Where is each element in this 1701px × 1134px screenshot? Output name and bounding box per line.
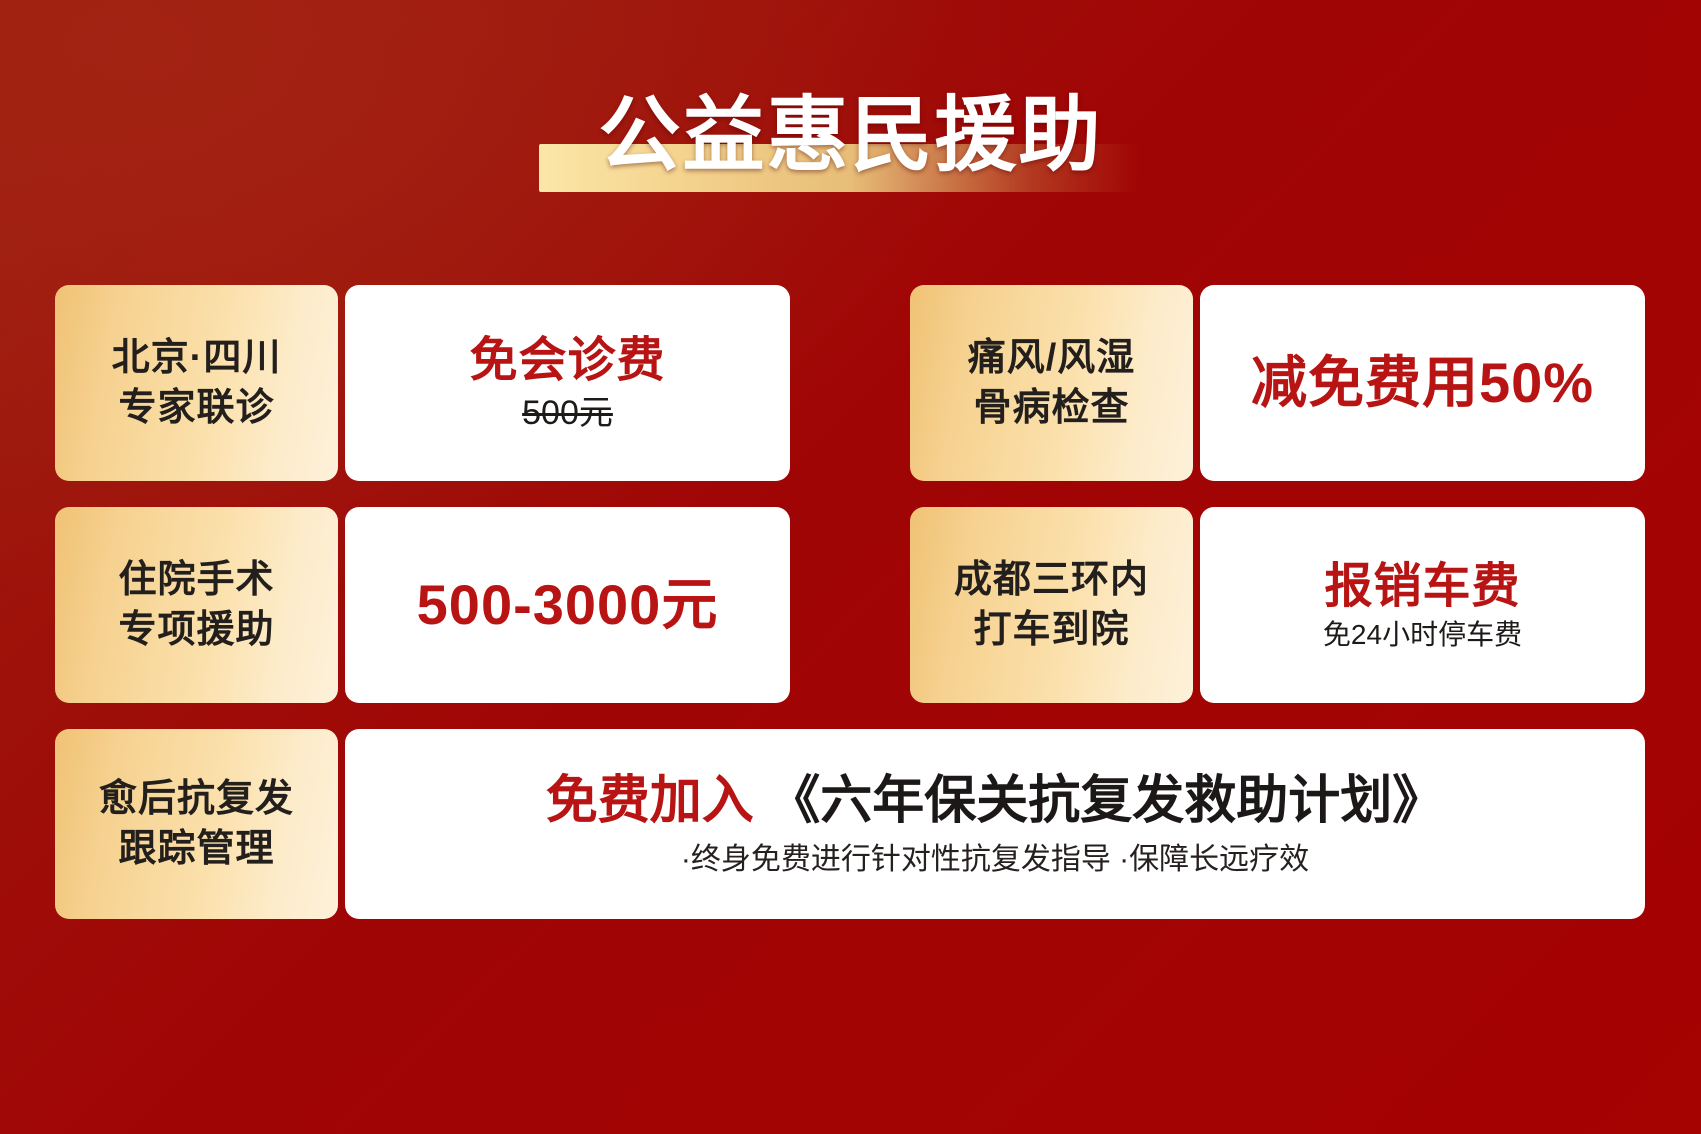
benefit-pair-5: 愈后抗复发 跟踪管理 免费加入 《六年保关抗复发救助计划》 ·终身免费进行针对性…: [55, 729, 1645, 919]
benefit-note-5: ·终身免费进行针对性抗复发指导 ·保障长远疗效: [681, 840, 1309, 880]
benefit-label-line-4a: 成都三环内: [954, 555, 1149, 605]
benefit-label-card-5: 愈后抗复发 跟踪管理: [55, 729, 338, 919]
benefit-label-line-3a: 住院手术: [118, 555, 274, 605]
benefit-label-card-1: 北京·四川 专家联诊: [55, 285, 338, 481]
benefit-pair-1: 北京·四川 专家联诊 免会诊费 500元: [55, 285, 790, 481]
benefit-pair-2: 痛风/风湿 骨病检查 减免费用50%: [910, 285, 1645, 481]
row-2-gap: [790, 507, 910, 703]
benefit-value-card-5: 免费加入 《六年保关抗复发救助计划》 ·终身免费进行针对性抗复发指导 ·保障长远…: [345, 729, 1645, 919]
benefit-label-line-1a: 北京·四川: [112, 333, 282, 383]
benefit-label-card-4: 成都三环内 打车到院: [910, 507, 1193, 703]
benefit-label-line-5b: 跟踪管理: [118, 824, 274, 874]
benefit-label-card-2: 痛风/风湿 骨病检查: [910, 285, 1193, 481]
benefit-headline-5: 免费加入 《六年保关抗复发救助计划》: [546, 768, 1444, 834]
benefit-headline-red: 免费加入: [546, 772, 754, 830]
benefit-value-main-1: 免会诊费: [469, 331, 665, 391]
benefit-value-sub-1: 500元: [522, 391, 613, 435]
benefit-label-line-4b: 打车到院: [973, 605, 1129, 655]
benefits-row-2: 住院手术 专项援助 500-3000元 成都三环内 打车到院 报销车费 免24小…: [55, 507, 1645, 703]
benefits-grid: 北京·四川 专家联诊 免会诊费 500元 痛风/风湿 骨病检查 减免费用50%: [55, 285, 1645, 919]
benefits-row-3: 愈后抗复发 跟踪管理 免费加入 《六年保关抗复发救助计划》 ·终身免费进行针对性…: [55, 729, 1645, 919]
benefit-pair-4: 成都三环内 打车到院 报销车费 免24小时停车费: [910, 507, 1645, 703]
benefit-value-card-3: 500-3000元: [345, 507, 790, 703]
benefit-label-line-3b: 专项援助: [118, 605, 274, 655]
benefit-label-card-3: 住院手术 专项援助: [55, 507, 338, 703]
benefit-value-main-2: 减免费用50%: [1251, 350, 1594, 416]
benefit-value-main-3: 500-3000元: [417, 572, 719, 638]
benefit-headline-dark: 《六年保关抗复发救助计划》: [768, 772, 1444, 830]
row-1-gap: [790, 285, 910, 481]
benefit-value-card-2: 减免费用50%: [1200, 285, 1645, 481]
page-title: 公益惠民援助: [0, 84, 1701, 188]
benefit-value-main-4: 报销车费: [1324, 557, 1520, 617]
benefit-value-sub-4: 免24小时停车费: [1323, 617, 1522, 653]
benefit-label-line-1b: 专家联诊: [118, 383, 274, 433]
benefit-label-line-2a: 痛风/风湿: [968, 333, 1136, 383]
benefit-value-card-1: 免会诊费 500元: [345, 285, 790, 481]
benefit-pair-3: 住院手术 专项援助 500-3000元: [55, 507, 790, 703]
benefit-value-card-4: 报销车费 免24小时停车费: [1200, 507, 1645, 703]
title-block: 公益惠民援助: [0, 84, 1701, 214]
benefit-label-line-5a: 愈后抗复发: [99, 774, 294, 824]
promo-poster: 公益惠民援助 北京·四川 专家联诊 免会诊费 500元 痛风/风湿 骨病检查: [0, 0, 1701, 1134]
benefits-row-1: 北京·四川 专家联诊 免会诊费 500元 痛风/风湿 骨病检查 减免费用50%: [55, 285, 1645, 481]
benefit-label-line-2b: 骨病检查: [973, 383, 1129, 433]
